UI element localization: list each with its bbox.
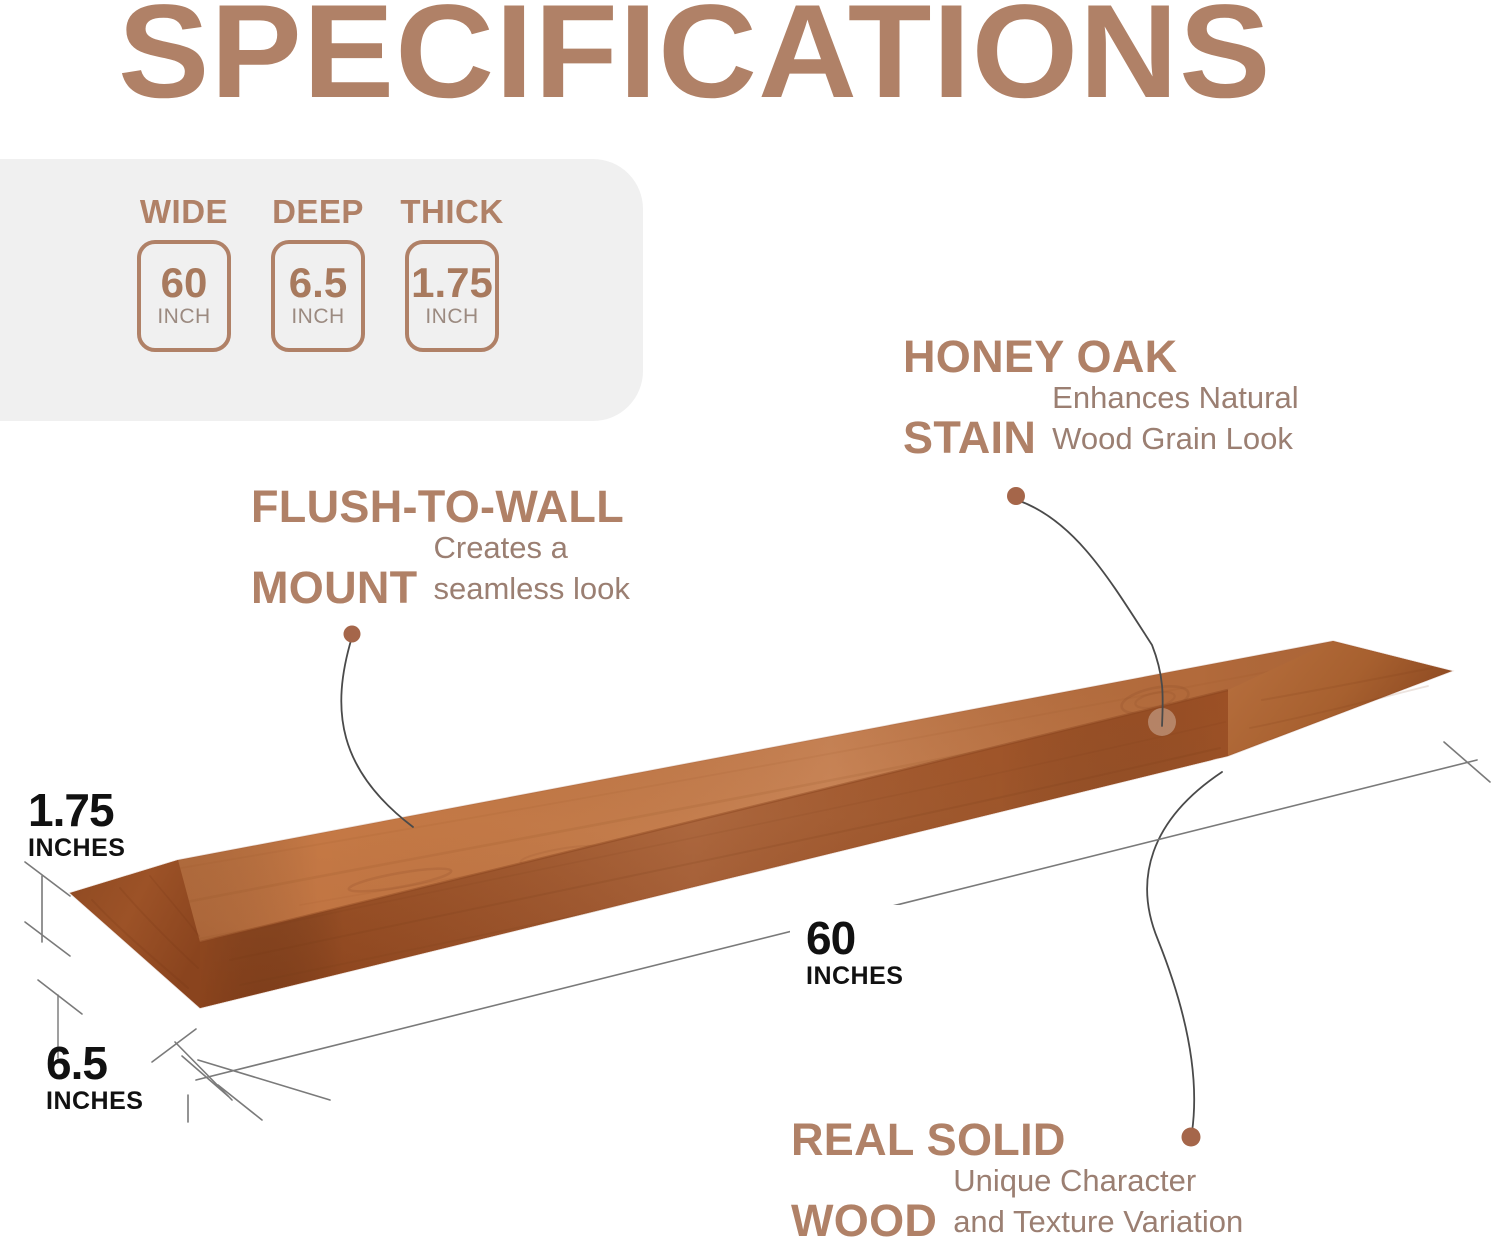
callout-real-solid-wood: REAL SOLID WOOD Unique Character and Tex… (791, 1116, 1243, 1244)
dimension-tick-depth-c (218, 1085, 262, 1120)
specifications-infographic: SPECIFICATIONS WIDE 60 INCH DEEP 6.5 INC… (0, 0, 1500, 1258)
dimension-line-depth-front (198, 1060, 330, 1100)
dimension-tick-thickness-top (25, 862, 70, 896)
dimension-tick-thickness-bottom (25, 922, 70, 956)
shelf-top-front-edge (200, 690, 1228, 942)
callout-wood-sub-line1: Unique Character (953, 1163, 1243, 1204)
callout-honey-oak-stain: HONEY OAK STAIN Enhances Natural Wood Gr… (903, 333, 1299, 461)
dimension-label-depth: 6.5 INCHES (46, 1040, 143, 1114)
leader-dot-flush-to-wall (344, 626, 361, 643)
dimension-unit-width: INCHES (806, 964, 903, 989)
callout-wood-second-row: WOOD Unique Character and Texture Variat… (791, 1163, 1243, 1244)
leader-dot-honey-oak (1007, 487, 1025, 505)
callout-honey-heading-line2: STAIN (903, 414, 1036, 461)
shelf-left-end-cap (70, 860, 200, 1008)
callout-honey-sub: Enhances Natural Wood Grain Look (1052, 380, 1298, 461)
callout-wood-sub-line2: and Texture Variation (953, 1204, 1243, 1245)
dimension-value-thickness: 1.75 (28, 787, 125, 833)
dimension-tick-depth-top (38, 980, 82, 1014)
callout-flush-sub: Creates a seamless look (433, 530, 629, 611)
callout-honey-second-row: STAIN Enhances Natural Wood Grain Look (903, 380, 1299, 461)
dimension-label-thickness: 1.75 INCHES (28, 787, 125, 861)
dimension-value-width: 60 (806, 915, 903, 961)
dimension-tick-width-right (1444, 742, 1490, 782)
dimension-label-width: 60 INCHES (806, 915, 903, 989)
dimension-unit-depth: INCHES (46, 1089, 143, 1114)
callout-flush-second-row: MOUNT Creates a seamless look (251, 530, 630, 611)
callout-flush-sub-line2: seamless look (433, 571, 629, 612)
callout-honey-sub-line2: Wood Grain Look (1052, 421, 1298, 462)
callout-honey-sub-line1: Enhances Natural (1052, 380, 1298, 421)
wood-shelf (70, 641, 1452, 1008)
dimension-unit-thickness: INCHES (28, 836, 125, 861)
callout-wood-heading-line2: WOOD (791, 1197, 937, 1244)
callout-flush-heading-line2: MOUNT (251, 564, 417, 611)
callout-wood-sub: Unique Character and Texture Variation (953, 1163, 1243, 1244)
dimension-value-depth: 6.5 (46, 1040, 143, 1086)
leader-line-flush-to-wall (341, 637, 413, 827)
callout-flush-to-wall-mount: FLUSH-TO-WALL MOUNT Creates a seamless l… (251, 483, 630, 611)
callout-wood-heading-line1: REAL SOLID (791, 1116, 1243, 1163)
callout-honey-heading-line1: HONEY OAK (903, 333, 1299, 380)
callout-flush-sub-line1: Creates a (433, 530, 629, 571)
leader-dot-wood-landing (1203, 758, 1237, 792)
product-illustration (0, 0, 1500, 1258)
callout-flush-heading-line1: FLUSH-TO-WALL (251, 483, 630, 530)
